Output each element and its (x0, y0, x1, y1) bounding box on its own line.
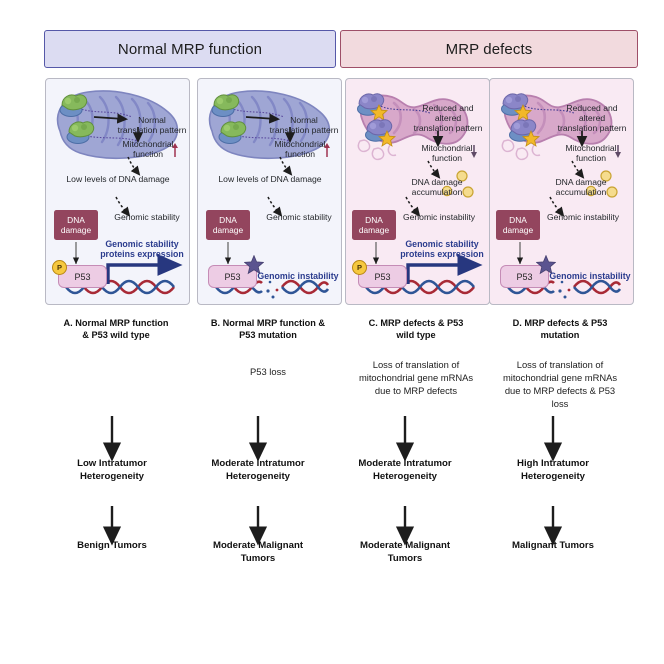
panel-d-mrp-defects-p53-mutation: Reduced and altered translation pattern … (489, 78, 634, 305)
subnote-c: Loss of translation of mitochondrial gen… (337, 358, 495, 397)
panel-b-normal-mrp-p53-mutation: Normal translation pattern Mitochondrial… (197, 78, 342, 305)
p53-label: P53 (374, 272, 390, 282)
mitochondrial-function-label: Mitochondrial function (416, 143, 478, 163)
dna-damage-box: DNAdamage (206, 210, 250, 240)
genomic-status-label: Genomic instability (394, 212, 484, 222)
panel-a-normal-mrp-p53-wt: Normal translation pattern Mitochondrial… (45, 78, 190, 305)
damage-level-label: Low levels of DNA damage (52, 174, 184, 184)
p53-label: P53 (224, 272, 240, 282)
arrows-to-heterogeneity (0, 402, 664, 462)
expression-label: Genomic stability proteins expression (98, 239, 186, 259)
dashed-arrow-1 (128, 157, 138, 173)
banner-normal-mrp-function: Normal MRP function (44, 30, 336, 68)
caption-a: A. Normal MRP function& P53 wild type (41, 317, 191, 341)
phospho-badge-icon: P (52, 260, 67, 275)
caption-b: B. Normal MRP function &P53 mutation (193, 317, 343, 341)
translation-pattern-label: Reduced and altered translation pattern (552, 103, 632, 133)
tumor-d: Malignant Tumors (473, 540, 633, 553)
heterogeneity-a: Low IntratumorHeterogeneity (32, 458, 192, 483)
genomic-instability-label: Genomic instability (256, 271, 340, 281)
tumor-a: Benign Tumors (32, 540, 192, 553)
heterogeneity-b: Moderate IntratumorHeterogeneity (178, 458, 338, 483)
expression-label: Genomic stability proteins expression (398, 239, 486, 259)
genomic-instability-label: Genomic instability (548, 271, 632, 281)
genomic-status-label: Genomic instability (538, 212, 628, 222)
figure-canvas: Normal MRP function MRP defects (0, 0, 664, 664)
dna-damage-accumulation-label: DNA damage accumulation (538, 177, 624, 197)
heterogeneity-c: Moderate IntratumorHeterogeneity (325, 458, 485, 483)
mitochondrial-function-label: Mitochondrial function (270, 139, 330, 159)
mitochondrial-function-label: Mitochondrial function (118, 139, 178, 159)
p53-label: P53 (516, 272, 532, 282)
arrows-to-tumors (0, 498, 664, 546)
genomic-status-label: Genomic stability (108, 212, 186, 222)
caption-d: D. MRP defects & P53mutation (485, 317, 635, 341)
panel-c-mrp-defects-p53-wt: Reduced and altered translation pattern … (345, 78, 490, 305)
heterogeneity-d: High IntratumorHeterogeneity (473, 458, 633, 483)
dashed-arrow-1 (572, 161, 582, 176)
translation-pattern-label: Normal translation pattern (116, 115, 188, 135)
subnote-b: P53 loss (189, 365, 347, 378)
translation-pattern-label: Normal translation pattern (268, 115, 340, 135)
dashed-arrow-1 (280, 157, 290, 173)
mitochondrial-function-label: Mitochondrial function (560, 143, 622, 163)
genomic-status-label: Genomic stability (260, 212, 338, 222)
dna-damage-box: DNAdamage (352, 210, 396, 240)
banner-mrp-defects: MRP defects (340, 30, 638, 68)
dna-damage-accumulation-label: DNA damage accumulation (394, 177, 480, 197)
tumor-b: Moderate MalignantTumors (178, 540, 338, 565)
p53-label: P53 (74, 272, 90, 282)
banner-normal-label: Normal MRP function (118, 41, 262, 58)
banner-defects-label: MRP defects (446, 41, 533, 58)
dna-damage-box: DNAdamage (54, 210, 98, 240)
translation-pattern-label: Reduced and altered translation pattern (408, 103, 488, 133)
damage-level-label: Low levels of DNA damage (204, 174, 336, 184)
caption-c: C. MRP defects & P53wild type (341, 317, 491, 341)
phospho-badge-icon: P (352, 260, 367, 275)
dashed-arrow-1 (428, 161, 438, 176)
tumor-c: Moderate MalignantTumors (325, 540, 485, 565)
dna-damage-box: DNAdamage (496, 210, 540, 240)
